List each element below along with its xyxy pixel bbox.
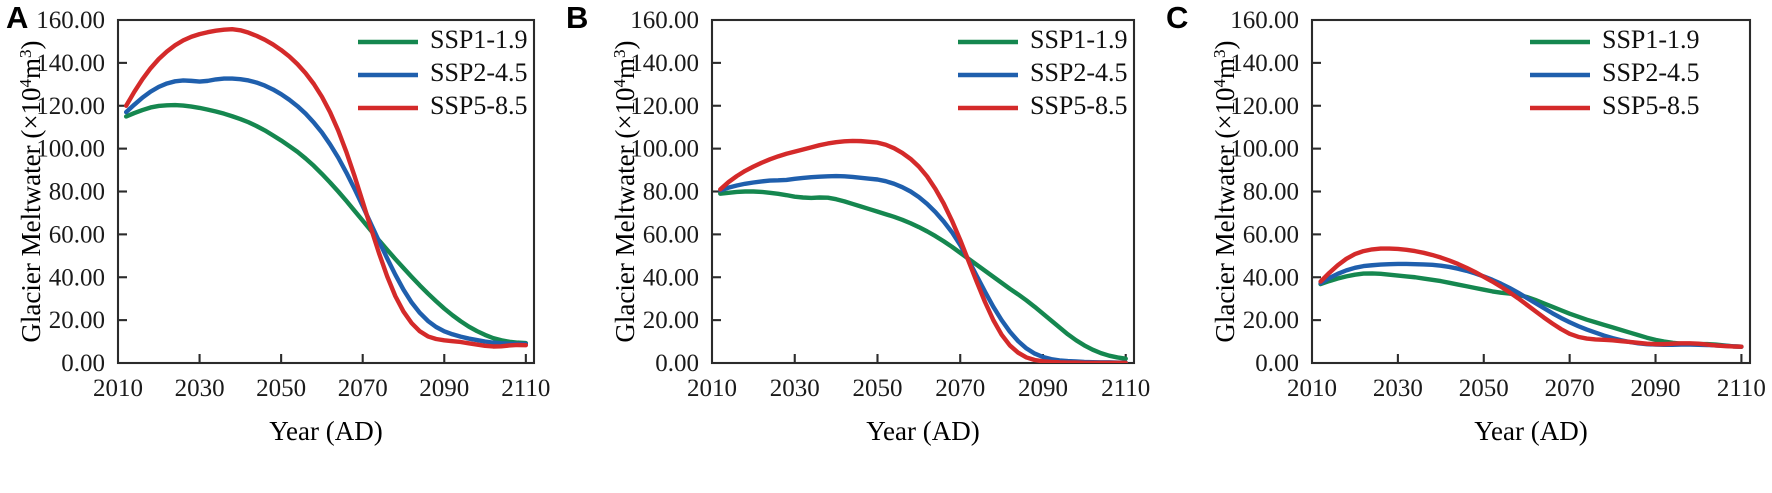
x-tick-label: 2030	[1373, 375, 1423, 402]
y-tick-label: 140.00	[630, 50, 699, 77]
x-tick-label: 2010	[93, 375, 143, 402]
y-tick-label: 120.00	[630, 93, 699, 120]
legend-label-1: SSP1-1.9	[1030, 25, 1128, 54]
legend-label-3: SSP5-8.5	[1030, 91, 1128, 120]
x-tick-label: 2110	[501, 375, 550, 402]
y-tick-label: 100.00	[630, 136, 699, 163]
chart-b: 0.0020.0040.0060.0080.00100.00120.00140.…	[560, 0, 1160, 493]
y-tick-label: 160.00	[1230, 7, 1299, 34]
y-tick-label: 140.00	[1230, 50, 1299, 77]
x-tick-label: 2030	[770, 375, 820, 402]
x-tick-label: 2070	[935, 375, 985, 402]
x-tick-label: 2090	[419, 375, 469, 402]
x-axis-title: Year (AD)	[1474, 416, 1587, 446]
x-tick-label: 2070	[1545, 375, 1595, 402]
y-tick-label: 120.00	[36, 93, 105, 120]
x-tick-label: 2070	[338, 375, 388, 402]
legend-label-1: SSP1-1.9	[1602, 25, 1700, 54]
y-tick-label: 20.00	[1243, 307, 1299, 334]
x-tick-label: 2050	[852, 375, 902, 402]
y-axis-title: Glacier Meltwater (×104m3)	[610, 40, 640, 342]
legend-label-3: SSP5-8.5	[1602, 91, 1700, 120]
chart-a: 0.0020.0040.0060.0080.00100.00120.00140.…	[0, 0, 560, 493]
figure-root: A 0.0020.0040.0060.0080.00100.00120.0014…	[0, 0, 1772, 493]
panel-c: C 0.0020.0040.0060.0080.00100.00120.0014…	[1160, 0, 1772, 493]
legend-label-2: SSP2-4.5	[1030, 58, 1128, 87]
y-tick-label: 0.00	[1255, 350, 1299, 377]
y-tick-label: 140.00	[36, 50, 105, 77]
x-axis-title: Year (AD)	[866, 416, 979, 446]
y-tick-label: 40.00	[643, 264, 699, 291]
y-tick-label: 60.00	[1243, 221, 1299, 248]
y-tick-label: 40.00	[1243, 264, 1299, 291]
legend-label-1: SSP1-1.9	[430, 25, 528, 54]
y-tick-label: 100.00	[1230, 136, 1299, 163]
x-tick-label: 2110	[1101, 375, 1150, 402]
x-axis-title: Year (AD)	[269, 416, 382, 446]
y-tick-label: 80.00	[1243, 179, 1299, 206]
y-tick-label: 0.00	[655, 350, 699, 377]
x-tick-label: 2030	[175, 375, 225, 402]
y-axis-title: Glacier Meltwater (×104m3)	[16, 40, 46, 342]
x-tick-label: 2090	[1631, 375, 1681, 402]
y-tick-label: 60.00	[643, 221, 699, 248]
y-tick-label: 40.00	[49, 264, 105, 291]
chart-c: 0.0020.0040.0060.0080.00100.00120.00140.…	[1160, 0, 1772, 493]
y-tick-label: 20.00	[49, 307, 105, 334]
y-axis-title: Glacier Meltwater (×104m3)	[1210, 40, 1240, 342]
y-tick-label: 80.00	[643, 179, 699, 206]
legend-label-2: SSP2-4.5	[1602, 58, 1700, 87]
y-tick-label: 160.00	[630, 7, 699, 34]
x-tick-label: 2050	[1459, 375, 1509, 402]
series-group	[1321, 249, 1742, 347]
legend-label-3: SSP5-8.5	[430, 91, 528, 120]
y-tick-label: 120.00	[1230, 93, 1299, 120]
y-tick-label: 60.00	[49, 221, 105, 248]
y-tick-label: 20.00	[643, 307, 699, 334]
x-tick-label: 2010	[1287, 375, 1337, 402]
y-tick-label: 0.00	[61, 350, 105, 377]
y-tick-label: 100.00	[36, 136, 105, 163]
series-group	[720, 141, 1125, 363]
panel-b: B 0.0020.0040.0060.0080.00100.00120.0014…	[560, 0, 1160, 493]
legend-label-2: SSP2-4.5	[430, 58, 528, 87]
x-tick-label: 2110	[1717, 375, 1766, 402]
y-tick-label: 80.00	[49, 179, 105, 206]
x-tick-label: 2010	[687, 375, 737, 402]
series-line-ssp1-1-9	[720, 192, 1125, 359]
y-tick-label: 160.00	[36, 7, 105, 34]
x-tick-label: 2050	[256, 375, 306, 402]
panel-a: A 0.0020.0040.0060.0080.00100.00120.0014…	[0, 0, 560, 493]
x-tick-label: 2090	[1018, 375, 1068, 402]
